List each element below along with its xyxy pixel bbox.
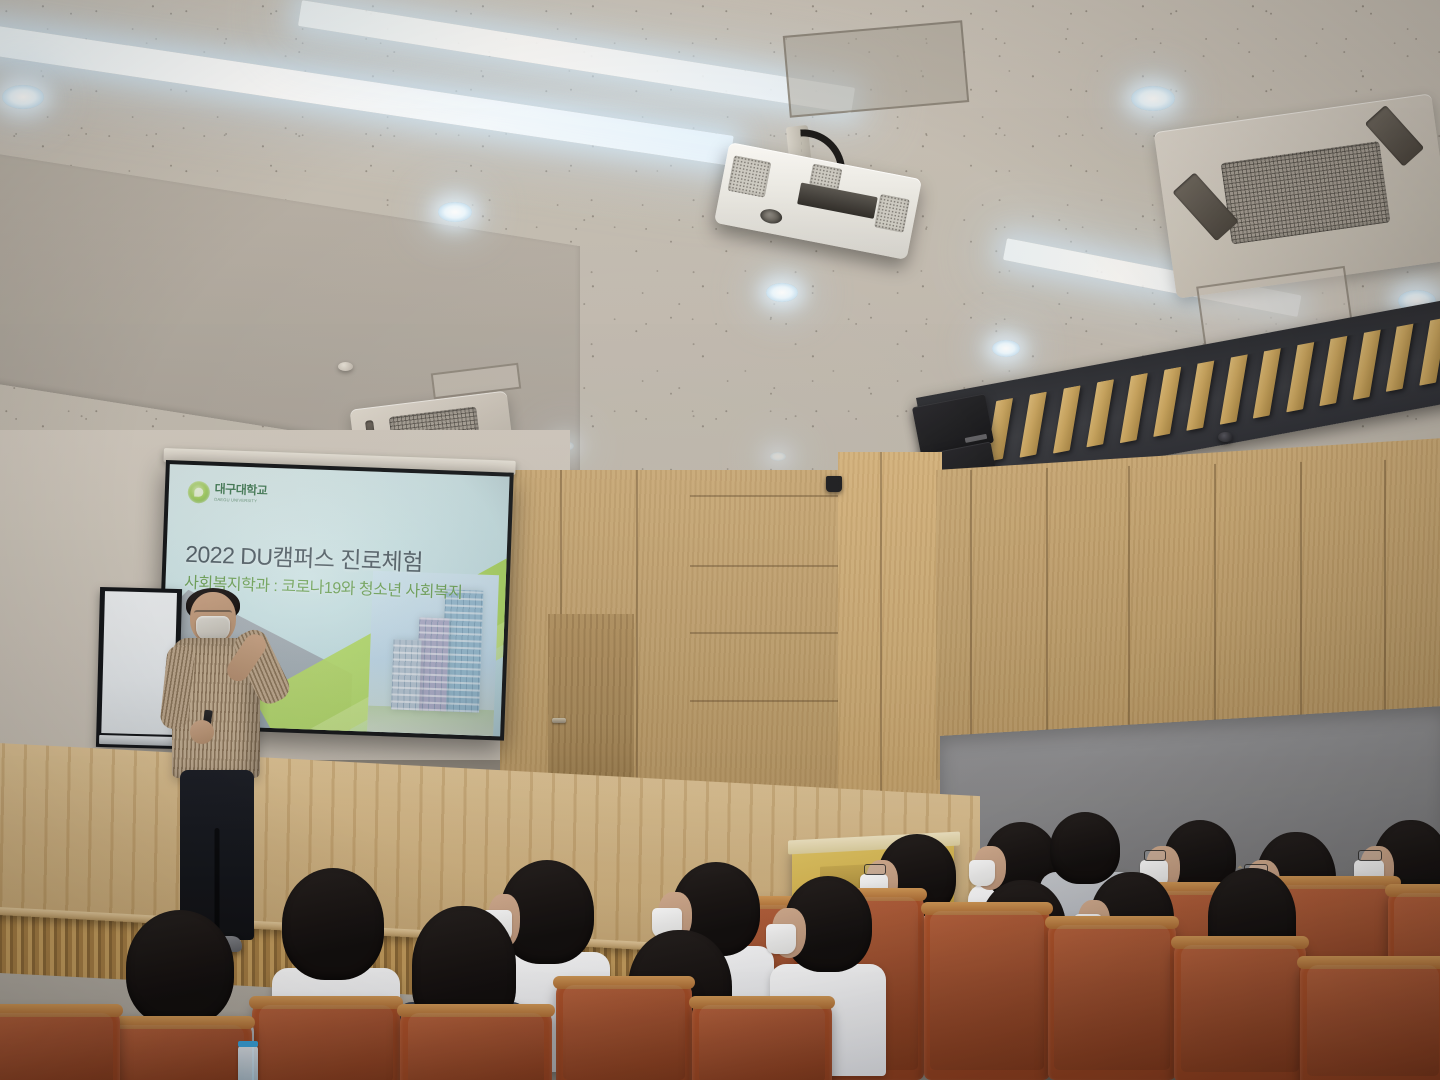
bottle-cap	[238, 1041, 258, 1047]
auditorium-seat[interactable]	[692, 1000, 832, 1080]
seat-rim	[397, 1004, 555, 1017]
projector-body	[714, 142, 922, 260]
seat-rim	[1171, 936, 1309, 949]
ceiling-projector	[706, 126, 936, 266]
seat-rim	[921, 902, 1053, 915]
downlight-5	[1131, 86, 1175, 111]
security-camera	[826, 476, 842, 492]
projector-vent-left	[727, 155, 771, 198]
slide-logo-subtext: DAEGU UNIVERSITY	[214, 497, 267, 504]
slide-university-logo: 대구대학교 DAEGU UNIVERSITY	[187, 480, 267, 505]
projector-vent-right	[874, 194, 910, 233]
slide-building-mid	[416, 617, 450, 712]
wood-baffle	[1186, 358, 1214, 430]
ac-grille-right	[1221, 141, 1391, 244]
projector-lens	[759, 207, 783, 225]
wood-baffle	[1319, 330, 1348, 407]
auditorium-seat[interactable]	[1048, 920, 1176, 1080]
access-hatch-upper	[783, 20, 969, 117]
seat-rim	[1045, 916, 1179, 929]
wood-baffle	[1120, 373, 1148, 443]
seat-rim	[0, 1004, 123, 1017]
whiteboard-marker-tray	[99, 735, 175, 746]
seat-rim	[1385, 884, 1440, 897]
student-hair	[126, 910, 234, 1026]
auditorium-seat[interactable]	[1174, 940, 1306, 1080]
student-glasses-icon	[1358, 850, 1382, 861]
wood-baffle	[1286, 338, 1315, 412]
wood-column	[838, 452, 942, 842]
downlight-1	[2, 85, 44, 109]
seat-rim	[553, 976, 695, 989]
seat-rim	[689, 996, 835, 1009]
ceiling-speaker-b	[1218, 432, 1233, 442]
seat-rim	[1297, 956, 1440, 969]
wood-baffle	[1253, 344, 1282, 418]
slide-logo-text: 대구대학교	[214, 483, 267, 497]
wood-baffle	[1419, 318, 1440, 385]
wood-seam	[636, 470, 638, 800]
door-handle[interactable]	[552, 718, 566, 723]
wood-baffle	[1386, 318, 1415, 391]
auditorium-seat[interactable]	[0, 1008, 120, 1080]
auditorium-seat[interactable]	[1300, 960, 1440, 1080]
wood-baffle	[1086, 379, 1114, 447]
downlight-9	[770, 452, 786, 461]
student-hair	[282, 868, 384, 980]
auditorium-photo: 대구대학교 DAEGU UNIVERSITY 2022 DU캠퍼스 진로체험 사…	[0, 0, 1440, 1080]
wood-baffle	[1153, 367, 1181, 437]
smoke-detector	[338, 362, 353, 371]
seat-rim	[249, 996, 403, 1009]
auditorium-seat[interactable]	[252, 1000, 400, 1080]
wood-baffle	[1353, 323, 1382, 400]
downlight-2	[438, 202, 472, 222]
slide-building-left	[391, 639, 421, 711]
auditorium-seat[interactable]	[924, 906, 1050, 1080]
auditorium-seat[interactable]	[400, 1008, 552, 1080]
presenter	[172, 592, 282, 962]
university-emblem-icon	[187, 480, 210, 503]
wood-baffle	[1020, 392, 1047, 458]
water-bottle[interactable]	[238, 1046, 258, 1080]
wood-seam	[880, 452, 882, 842]
wood-baffle	[1220, 352, 1248, 424]
auditorium-seat[interactable]	[556, 980, 692, 1080]
downlight-3	[766, 283, 798, 302]
wood-baffle	[1053, 385, 1081, 453]
student-glasses-icon	[864, 864, 886, 875]
presenter-left-hand	[190, 720, 214, 744]
downlight-4	[992, 340, 1020, 357]
student-glasses-icon	[1144, 850, 1166, 861]
student-face-mask	[766, 924, 796, 954]
